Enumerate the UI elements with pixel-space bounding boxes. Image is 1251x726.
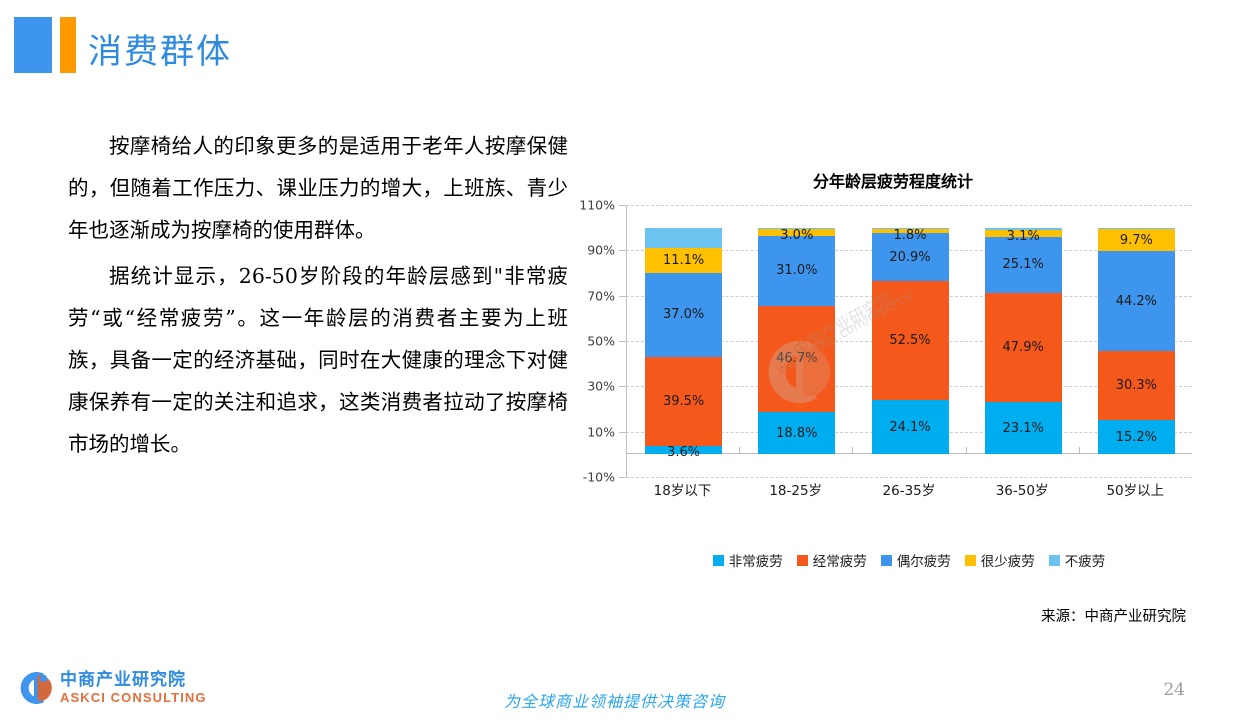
y-axis-tick-label: 50% (587, 334, 615, 349)
bar-segment-label: 52.5% (889, 333, 930, 348)
y-axis-tick-label: 90% (587, 243, 615, 258)
legend-item[interactable]: 非常疲劳 (713, 550, 783, 570)
bar-segment-label: 46.7% (776, 351, 817, 366)
bar-segment[interactable]: 23.1% (985, 402, 1062, 454)
y-axis-tick-label: -10% (583, 470, 615, 485)
legend-item[interactable]: 不疲劳 (1049, 550, 1106, 570)
bar-segment[interactable]: 47.9% (985, 293, 1062, 402)
bar-segment-label: 9.7% (1120, 233, 1153, 248)
header-accent-bar (60, 17, 76, 73)
bar-segment[interactable]: 44.2% (1098, 251, 1175, 351)
bar-segment-label: 11.1% (663, 253, 704, 268)
bar-segment[interactable] (758, 228, 835, 229)
slide-header: 消费群体 (0, 0, 1251, 100)
bar-segment-label: 39.5% (663, 394, 704, 409)
chart-panel: 分年龄层疲劳程度统计 110%90%70%50%30%10%-10% 3.6%3… (578, 160, 1208, 630)
bar-segment[interactable]: 18.8% (758, 412, 835, 455)
bar-segment[interactable] (985, 228, 1062, 230)
bar-segment-label: 24.1% (889, 420, 930, 435)
bar-segment-label: 3.0% (780, 228, 813, 243)
bar-segment[interactable] (645, 228, 722, 248)
stacked-bar[interactable]: 15.2%30.3%44.2%9.7% (1098, 228, 1175, 455)
logo-text-cn: 中商产业研究院 (60, 671, 207, 690)
bar-segment-label: 23.1% (1003, 421, 1044, 436)
paragraph-2: 据统计显示，26-50岁阶段的年龄层感到"非常疲劳“或“经常疲劳”。这一年龄层的… (68, 255, 568, 465)
y-axis-tick (619, 432, 626, 433)
bar-segment[interactable]: 39.5% (645, 357, 722, 447)
bar-segment-label: 1.8% (893, 228, 926, 243)
y-axis-tick-label: 110% (579, 198, 615, 213)
bar-segment-label: 31.0% (776, 263, 817, 278)
bar-segment[interactable]: 25.1% (985, 237, 1062, 294)
y-axis-tick-label: 10% (587, 424, 615, 439)
bar-segment-label: 15.2% (1116, 430, 1157, 445)
bar-segment[interactable]: 1.8% (872, 229, 949, 233)
legend-label: 经常疲劳 (813, 550, 867, 570)
chart-plot-area: 110%90%70%50%30%10%-10% 3.6%39.5%37.0%11… (626, 205, 1192, 477)
footer-tagline: 为全球商业领袖提供决策咨询 (504, 688, 725, 712)
gridline (626, 477, 1192, 478)
source-note: 来源：中商产业研究院 (578, 605, 1186, 626)
bar-segment-label: 30.3% (1116, 378, 1157, 393)
x-axis-label: 36-50岁 (966, 479, 1079, 499)
legend-item[interactable]: 偶尔疲劳 (881, 550, 951, 570)
legend-item[interactable]: 很少疲劳 (965, 550, 1035, 570)
y-axis-tick-label: 70% (587, 288, 615, 303)
x-axis-label: 50岁以上 (1079, 479, 1192, 499)
bar-segment-label: 37.0% (663, 307, 704, 322)
legend-swatch (713, 555, 724, 566)
askci-logo-icon (14, 668, 54, 708)
paragraph-1: 按摩椅给人的印象更多的是适用于老年人按摩保健的，但随着工作压力、课业压力的增大，… (68, 125, 568, 251)
stacked-bar[interactable]: 24.1%52.5%20.9%1.8% (872, 228, 949, 455)
bar-group: 3.6%39.5%37.0%11.1%18.8%46.7%31.0%3.0%24… (627, 205, 1192, 477)
bar-segment-label: 18.8% (776, 426, 817, 441)
chart-title: 分年龄层疲劳程度统计 (578, 168, 1208, 192)
y-axis-tick-label: 30% (587, 379, 615, 394)
bar-segment[interactable] (1098, 228, 1175, 229)
company-logo: 中商产业研究院 ASKCI CONSULTING (14, 668, 207, 708)
stacked-bar[interactable]: 18.8%46.7%31.0%3.0% (758, 228, 835, 455)
y-axis-tick (619, 205, 626, 206)
y-axis-tick (619, 386, 626, 387)
legend-swatch (881, 555, 892, 566)
bar-segment[interactable]: 15.2% (1098, 420, 1175, 454)
bar-segment[interactable] (872, 228, 949, 230)
header-accent-square (14, 17, 52, 73)
bar-segment[interactable]: 52.5% (872, 281, 949, 400)
bar-segment[interactable]: 46.7% (758, 306, 835, 412)
bar-segment[interactable]: 30.3% (1098, 351, 1175, 420)
x-axis-label: 18-25岁 (739, 479, 852, 499)
legend-label: 偶尔疲劳 (897, 550, 951, 570)
bar-segment-label: 47.9% (1003, 340, 1044, 355)
bar-segment-label: 3.6% (667, 445, 700, 460)
logo-text-en: ASKCI CONSULTING (60, 690, 207, 705)
bar-segment[interactable]: 3.0% (758, 229, 835, 236)
legend-swatch (797, 555, 808, 566)
legend-label: 很少疲劳 (981, 550, 1035, 570)
x-axis-label: 26-35岁 (852, 479, 965, 499)
legend-label: 非常疲劳 (729, 550, 783, 570)
bar-segment[interactable]: 3.6% (645, 446, 722, 454)
stacked-bar[interactable]: 23.1%47.9%25.1%3.1% (985, 228, 1062, 455)
bar-segment[interactable]: 9.7% (1098, 229, 1175, 251)
legend-item[interactable]: 经常疲劳 (797, 550, 867, 570)
stacked-bar[interactable]: 3.6%39.5%37.0%11.1% (645, 228, 722, 455)
article-body: 按摩椅给人的印象更多的是适用于老年人按摩保健的，但随着工作压力、课业压力的增大，… (68, 125, 568, 465)
bar-segment[interactable]: 37.0% (645, 273, 722, 357)
y-axis-tick (619, 296, 626, 297)
bar-segment-label: 3.1% (1007, 229, 1040, 244)
bar-segment[interactable]: 24.1% (872, 400, 949, 455)
legend-swatch (1049, 555, 1060, 566)
bar-segment[interactable]: 31.0% (758, 236, 835, 306)
legend-swatch (965, 555, 976, 566)
y-axis-tick (619, 341, 626, 342)
slide-footer: 中商产业研究院 ASKCI CONSULTING 为全球商业领袖提供决策咨询 2… (0, 664, 1251, 726)
bar-segment-label: 25.1% (1003, 257, 1044, 272)
bar-segment[interactable]: 3.1% (985, 230, 1062, 237)
y-axis-tick (619, 250, 626, 251)
page-number: 24 (1163, 680, 1185, 700)
chart-legend: 非常疲劳经常疲劳偶尔疲劳很少疲劳不疲劳 (626, 550, 1192, 570)
page-title: 消费群体 (88, 24, 232, 73)
legend-label: 不疲劳 (1065, 550, 1106, 570)
x-axis-label: 18岁以下 (626, 479, 739, 499)
bar-segment-label: 20.9% (889, 250, 930, 265)
y-axis-tick (619, 477, 626, 478)
bar-segment-label: 44.2% (1116, 294, 1157, 309)
bar-segment[interactable]: 11.1% (645, 248, 722, 273)
